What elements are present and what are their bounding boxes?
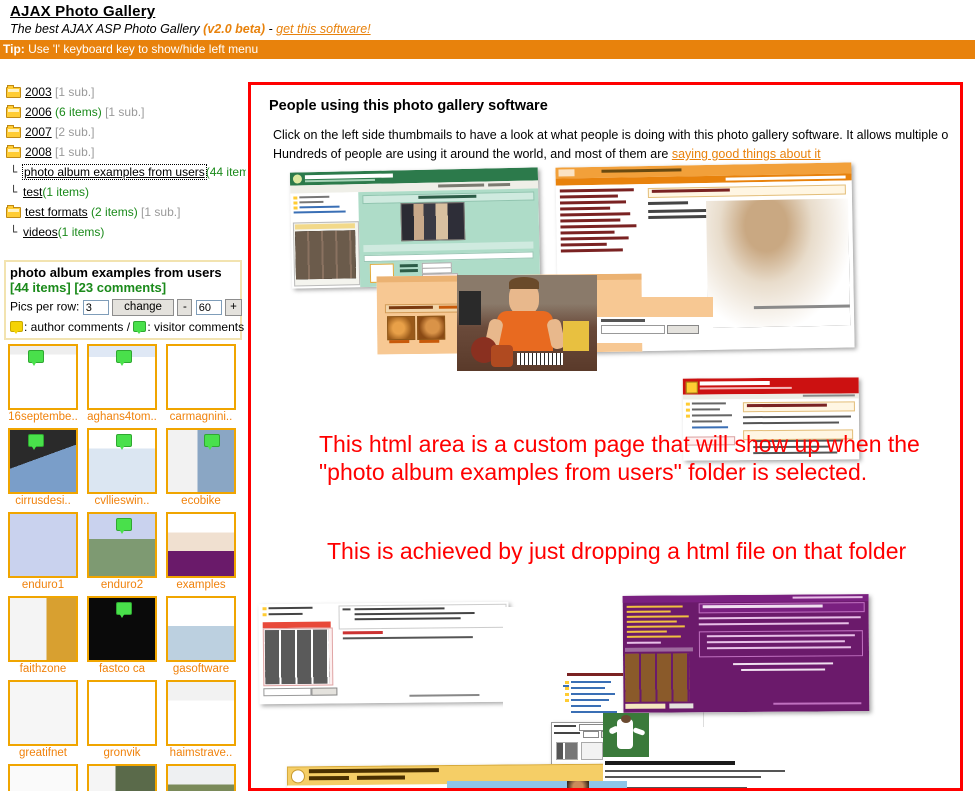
example-screenshot-library [603,757,791,788]
thumbnail-preview [10,514,76,576]
thumbnail-grid: 16septembe..aghans4tom..carmagnini..cirr… [0,340,246,344]
thumbnail-cell[interactable]: carmagnini.. [164,344,238,425]
thumbnail-caption[interactable]: cirrusdesi.. [6,494,80,509]
thumbnail-caption[interactable]: carmagnini.. [164,410,238,425]
subtitle-dash: - [265,22,276,36]
thumbnail-cell[interactable]: cirrusdesi.. [6,428,80,509]
thumbnail-image[interactable] [87,512,157,578]
tree-item[interactable]: 2007 [2 sub.] [6,122,246,142]
thumbnail-image[interactable] [8,596,78,662]
visitor-comment-icon [116,434,132,447]
album-title: photo album examples from users [10,265,222,280]
album-title-row: photo album examples from users [44 item… [10,265,236,295]
thumbnail-cell[interactable]: faithzone [6,596,80,677]
change-button[interactable]: change [112,299,174,316]
increase-size-button[interactable]: + [225,299,242,316]
thumbnail-preview [89,766,155,791]
visitor-comment-icon [116,350,132,363]
thumbnail-cell[interactable]: ecobike [164,428,238,509]
tree-item[interactable]: └photo album examples from users(44 item… [6,162,246,182]
thumbnail-caption[interactable]: enduro2 [85,578,159,593]
thumbnail-image[interactable] [87,596,157,662]
tree-item-label[interactable]: test [23,185,42,199]
visitor-comment-icon [28,350,44,363]
visitor-comment-icon [28,434,44,447]
thumbnail-caption[interactable]: enduro1 [6,578,80,593]
thumbnail-image[interactable] [166,512,236,578]
thumbnail-preview [168,346,234,408]
tree-item-label[interactable]: 2007 [25,125,52,139]
legend-author-label: : author comments / [24,320,133,334]
tip-bar: Tip: Use 'l' keyboard key to show/hide l… [0,39,975,59]
visitor-comment-icon [133,321,146,332]
album-info-panel: photo album examples from users [44 item… [4,260,242,340]
thumbnail-cell[interactable] [6,764,80,791]
page-subtitle: The best AJAX ASP Photo Gallery (v2.0 be… [0,20,975,39]
example-screenshot-bluestrip [447,781,627,788]
thumbnail-image[interactable] [8,764,78,791]
thumbnail-preview [168,514,234,576]
thumbnail-cell[interactable]: aghans4tom.. [85,344,159,425]
thumbnail-cell[interactable]: cvllieswin.. [85,428,159,509]
thumbnail-preview [168,598,234,660]
tree-item-label[interactable]: photo album examples from users [23,165,206,179]
thumbnail-cell[interactable]: gasoftware [164,596,238,677]
left-sidebar: 2003 [1 sub.]2006 (6 items) [1 sub.]2007… [0,78,246,791]
visitor-comment-icon [116,602,132,615]
thumbnail-caption[interactable]: aghans4tom.. [85,410,159,425]
folder-icon [6,145,22,158]
pics-per-row-controls: Pics per row: change - + [10,299,236,316]
folder-icon [6,205,22,218]
thumbnail-caption[interactable]: examples [164,578,238,593]
thumbnail-image[interactable] [166,428,236,494]
visitor-comment-icon [116,518,132,531]
thumbnail-image[interactable] [8,512,78,578]
tree-item-count: (1 items) [42,185,89,199]
thumbnail-cell[interactable] [164,764,238,791]
thumbnail-image[interactable] [87,344,157,410]
subtitle-text: The best AJAX ASP Photo Gallery [10,22,200,36]
page-header: AJAX Photo Gallery The best AJAX ASP Pho… [0,0,975,59]
tree-item-label[interactable]: videos [23,225,58,239]
thumbnail-preview [168,766,234,791]
thumbnail-image[interactable] [166,680,236,746]
thumbnail-caption[interactable]: fastco ca [85,662,159,677]
folder-tree: 2003 [1 sub.]2006 (6 items) [1 sub.]2007… [0,78,246,242]
thumbnail-caption[interactable]: faithzone [6,662,80,677]
tree-item[interactable]: └videos(1 items) [6,222,246,242]
example-screenshots-collage: This html area is a custom page that wil… [251,85,960,788]
tree-branch-icon: └ [10,182,23,202]
tree-item-subcount: [1 sub.] [55,85,94,99]
thumbnail-caption[interactable]: haimstrave.. [164,746,238,761]
pics-per-row-input[interactable] [83,300,109,315]
tree-item[interactable]: 2003 [1 sub.] [6,82,246,102]
tree-item-count: (44 items) [206,165,246,179]
album-item-count: [44 items] [10,280,71,295]
version-badge: (v2.0 beta) [203,22,265,36]
main-content-panel: People using this photo gallery software… [248,82,963,791]
thumbnail-image[interactable] [166,764,236,791]
tree-item-subcount: [1 sub.] [105,105,144,119]
thumbnail-image[interactable] [166,596,236,662]
thumbnail-cell[interactable]: gronvik [85,680,159,761]
pics-per-row-label: Pics per row: [10,300,79,314]
thumbnail-caption[interactable]: cvllieswin.. [85,494,159,509]
thumbnail-preview [89,682,155,744]
thumbnail-cell[interactable]: 16septembe.. [6,344,80,425]
thumbnail-image[interactable] [87,428,157,494]
thumbnail-cell[interactable] [85,764,159,791]
thumbnail-image[interactable] [8,428,78,494]
folder-icon [6,85,22,98]
thumbnail-caption[interactable]: greatifnet [6,746,80,761]
thumbnail-image[interactable] [8,680,78,746]
example-screenshot-lakay [290,167,540,288]
tree-item[interactable]: 2008 [1 sub.] [6,142,246,162]
thumbnail-caption[interactable]: ecobike [164,494,238,509]
visitor-comment-icon [204,434,220,447]
tree-item-label[interactable]: 2003 [25,85,52,99]
get-software-link[interactable]: get this software! [276,22,371,36]
thumb-size-input[interactable] [196,300,222,315]
tree-item-subcount: [1 sub.] [141,205,180,219]
page-title: AJAX Photo Gallery [0,0,975,20]
author-comment-icon [10,321,23,332]
tip-label: Tip: [3,42,25,56]
comment-legend: : author comments / : visitor comments [10,320,236,334]
thumbnail-caption[interactable]: gasoftware [164,662,238,677]
thumbnail-cell[interactable]: enduro2 [85,512,159,593]
tree-branch-icon: └ [10,162,23,182]
tree-item-label[interactable]: test formats [25,205,88,219]
tree-item-count: (6 items) [55,105,102,119]
album-comment-count: [23 comments] [74,280,166,295]
tree-item-subcount: [2 sub.] [55,125,94,139]
folder-icon [6,105,22,118]
thumbnail-preview [168,430,234,492]
thumbnail-cell[interactable]: greatifnet [6,680,80,761]
tree-item-count: (1 items) [58,225,105,239]
tree-item-label[interactable]: 2008 [25,145,52,159]
decrease-size-button[interactable]: - [177,299,192,316]
tree-item-label[interactable]: 2006 [25,105,52,119]
thumbnail-image[interactable] [166,344,236,410]
annotation-text-2: This is achieved by just dropping a html… [327,537,957,565]
tip-text: Use 'l' keyboard key to show/hide left m… [25,42,258,56]
thumbnail-cell[interactable]: fastco ca [85,596,159,677]
tree-item-count: (2 items) [91,205,138,219]
example-screenshot-purple [623,594,870,713]
thumbnail-image[interactable] [87,764,157,791]
tree-branch-icon: └ [10,222,23,242]
example-screenshot-frenchgallery [258,602,509,705]
tree-item[interactable]: 2006 (6 items) [1 sub.] [6,102,246,122]
legend-visitor-label: : visitor comments [147,320,244,334]
thumbnail-preview [10,598,76,660]
thumbnail-caption[interactable]: 16septembe.. [6,410,80,425]
annotation-text-1: This html area is a custom page that wil… [319,430,959,486]
example-screenshot-musician [457,275,597,371]
example-screenshot-sports [603,713,649,759]
thumbnail-cell[interactable]: haimstrave.. [164,680,238,761]
thumbnail-cell[interactable]: examples [164,512,238,593]
folder-icon [6,125,22,138]
tree-item[interactable]: test formats (2 items) [1 sub.] [6,202,246,222]
thumbnail-preview [10,682,76,744]
thumbnail-preview [10,766,76,791]
thumbnail-preview [168,682,234,744]
tree-item-subcount: [1 sub.] [55,145,94,159]
thumbnail-caption[interactable]: gronvik [85,746,159,761]
thumbnail-image[interactable] [87,680,157,746]
thumbnail-cell[interactable]: enduro1 [6,512,80,593]
example-screenshot-search [597,297,713,343]
tree-item[interactable]: └test(1 items) [6,182,246,202]
thumbnail-image[interactable] [8,344,78,410]
